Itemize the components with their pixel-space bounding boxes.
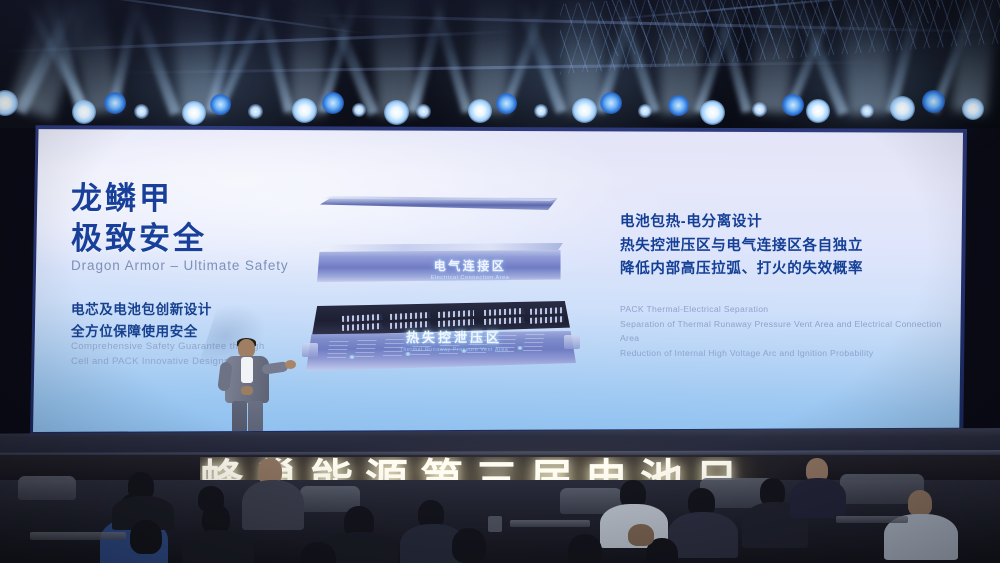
cell-module bbox=[390, 312, 430, 320]
audience-area bbox=[0, 480, 1000, 563]
right-body-en-line2: Separation of Thermal Runaway Pressure V… bbox=[620, 317, 963, 346]
stage-light-blue bbox=[210, 94, 231, 115]
left-body-cn-line2: 全方位保障使用安全 bbox=[71, 321, 212, 343]
label-en: Thermal Runaway Pressure Vent Area bbox=[374, 347, 534, 353]
audience-table bbox=[510, 520, 590, 527]
presenter bbox=[215, 339, 305, 432]
cell-module bbox=[484, 308, 524, 316]
right-body-cn-line1: 电池包热-电分离设计 bbox=[620, 211, 863, 235]
slide-left-body-cn: 电芯及电池包创新设计 全方位保障使用安全 bbox=[71, 299, 212, 342]
vent-fin bbox=[326, 341, 348, 361]
stage-light bbox=[890, 96, 915, 121]
cell-module bbox=[484, 317, 524, 325]
left-body-cn-line1: 电芯及电池包创新设计 bbox=[71, 299, 212, 321]
stage-light bbox=[962, 98, 984, 120]
stage-light bbox=[534, 104, 548, 118]
stage-light-blue bbox=[322, 92, 344, 114]
stage-light bbox=[468, 99, 492, 123]
stage-light-blue bbox=[496, 93, 517, 114]
right-body-cn-line2: 热失控泄压区与电气连接区各自独立 bbox=[620, 235, 863, 259]
presenter-left-leg bbox=[232, 401, 247, 432]
light-beam bbox=[561, 0, 604, 113]
audience-head bbox=[568, 534, 602, 563]
light-beam bbox=[371, 0, 418, 115]
slide-right-body-cn: 电池包热-电分离设计 热失控泄压区与电气连接区各自独立 降低内部高压拉弧、打火的… bbox=[620, 211, 863, 282]
stage-light bbox=[384, 100, 409, 125]
stage-light bbox=[352, 103, 366, 117]
battery-pack-exploded-diagram: 电气连接区 Electrical Connection Area bbox=[296, 189, 586, 389]
audience-head bbox=[908, 490, 932, 516]
stage-light bbox=[860, 104, 874, 118]
cell-module bbox=[438, 319, 474, 327]
stage-light bbox=[416, 104, 431, 119]
stage-light bbox=[752, 102, 767, 117]
presentation-slide[interactable]: 龙鳞甲 极致安全 Dragon Armor – Ultimate Safety … bbox=[33, 127, 963, 432]
battery-pack-base: 热失控泄压区 Thermal Runaway Pressure Vent Are… bbox=[300, 297, 582, 383]
vent-glow bbox=[348, 355, 356, 359]
cell-module bbox=[530, 316, 564, 324]
audience-head bbox=[628, 524, 654, 546]
pressure-vent-label: 热失控泄压区 Thermal Runaway Pressure Vent Are… bbox=[374, 327, 534, 353]
audience-head bbox=[130, 520, 162, 554]
audience-table bbox=[836, 516, 908, 523]
stage-light bbox=[134, 104, 149, 119]
label-cn: 电气连接区 bbox=[400, 257, 540, 274]
audience-body bbox=[668, 512, 738, 558]
electrical-connection-layer: 电气连接区 Electrical Connection Area bbox=[314, 243, 566, 285]
slide-right-body-en: PACK Thermal-Electrical Separation Separ… bbox=[620, 302, 963, 360]
audience-head bbox=[452, 528, 486, 563]
stage-light bbox=[248, 104, 263, 119]
slide-title-line2: 极致安全 bbox=[71, 219, 207, 259]
stage-light-blue bbox=[782, 94, 804, 116]
water-bottle bbox=[488, 516, 502, 532]
stage-light bbox=[292, 98, 317, 123]
light-beam bbox=[843, 0, 890, 115]
slide-title: 龙鳞甲 极致安全 bbox=[71, 179, 207, 260]
stage-light bbox=[182, 101, 206, 125]
audience-head bbox=[198, 486, 224, 512]
stage-light bbox=[72, 100, 96, 124]
right-body-en-line1: PACK Thermal-Electrical Separation bbox=[620, 302, 963, 317]
stage-light bbox=[638, 104, 652, 118]
stage-light bbox=[572, 98, 597, 123]
audience-table bbox=[30, 532, 126, 540]
cell-module bbox=[342, 314, 382, 322]
presenter-shirt bbox=[241, 357, 253, 383]
stage-light-blue bbox=[668, 95, 689, 116]
presenter-left-hand bbox=[241, 386, 253, 395]
audience-body bbox=[242, 480, 304, 530]
stage-light bbox=[700, 100, 725, 125]
stage-light-blue bbox=[600, 92, 622, 114]
audience-body bbox=[790, 478, 846, 518]
presenter-right-hand bbox=[285, 360, 296, 369]
stage-light-blue bbox=[922, 90, 945, 113]
stage-light-blue bbox=[104, 92, 126, 114]
audience-chair bbox=[18, 476, 76, 500]
pack-end-cap bbox=[564, 335, 580, 349]
conference-stage-scene: 龙鳞甲 极致安全 Dragon Armor – Ultimate Safety … bbox=[0, 0, 1000, 563]
stage-light bbox=[806, 99, 830, 123]
right-body-cn-line3: 降低内部高压拉弧、打火的失效概率 bbox=[620, 258, 863, 282]
label-en: Electrical Connection Area bbox=[400, 275, 540, 281]
cell-module bbox=[438, 310, 474, 318]
cell-module bbox=[530, 307, 564, 315]
presenter-right-leg bbox=[248, 401, 263, 432]
electrical-connection-label: 电气连接区 Electrical Connection Area bbox=[400, 257, 540, 281]
slide-title-english: Dragon Armor – Ultimate Safety bbox=[71, 258, 289, 273]
label-cn: 热失控泄压区 bbox=[374, 327, 534, 346]
audience-body bbox=[182, 530, 254, 563]
slide-title-line1: 龙鳞甲 bbox=[71, 181, 173, 216]
right-body-en-line3: Reduction of Internal High Voltage Arc a… bbox=[620, 346, 963, 361]
